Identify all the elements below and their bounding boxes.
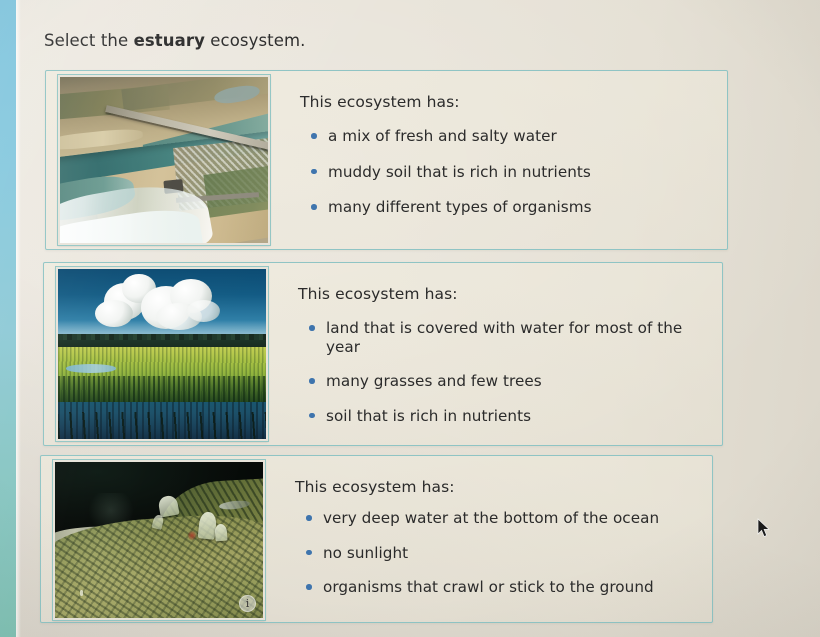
list-item: muddy soil that is rich in nutrients [328, 163, 711, 182]
estuary-thumbnail-wrap[interactable] [46, 71, 270, 249]
card-feature-list: a mix of fresh and salty water muddy soi… [300, 127, 711, 217]
estuary-aerial-photo[interactable] [58, 75, 270, 245]
card-feature-list: very deep water at the bottom of the oce… [295, 509, 696, 597]
prompt-keyword: estuary [134, 31, 205, 50]
list-item: land that is covered with water for most… [326, 319, 706, 356]
list-item: organisms that crawl or stick to the gro… [323, 578, 696, 597]
card-lead-text: This ecosystem has: [295, 478, 696, 496]
answer-card-marsh[interactable]: This ecosystem has: land that is covered… [43, 262, 723, 446]
list-item: very deep water at the bottom of the oce… [323, 509, 696, 528]
list-item: a mix of fresh and salty water [328, 127, 711, 146]
salt-marsh-photo[interactable] [56, 267, 268, 441]
deep-sea-thumbnail-wrap[interactable]: i [41, 456, 265, 622]
deep-sea-floor-photo[interactable]: i [53, 460, 265, 620]
marsh-thumbnail-wrap[interactable] [44, 263, 268, 445]
mouse-pointer-icon [757, 518, 771, 538]
list-item: many grasses and few trees [326, 372, 706, 391]
question-prompt: Select the estuary ecosystem. [44, 31, 306, 50]
prompt-text-before: Select the [44, 31, 134, 50]
card-feature-list: land that is covered with water for most… [298, 319, 706, 425]
list-item: no sunlight [323, 544, 696, 563]
app-left-edge-highlight [16, 0, 21, 637]
app-left-edge-strip [0, 0, 16, 637]
card-lead-text: This ecosystem has: [298, 285, 706, 303]
list-item: soil that is rich in nutrients [326, 407, 706, 426]
photo-credit-watermark-icon: i [239, 595, 256, 612]
answer-card-estuary[interactable]: This ecosystem has: a mix of fresh and s… [45, 70, 728, 250]
prompt-text-after: ecosystem. [205, 31, 306, 50]
card-lead-text: This ecosystem has: [300, 93, 711, 111]
list-item: many different types of organisms [328, 198, 711, 217]
answer-card-deep-sea[interactable]: i This ecosystem has: very deep water at… [40, 455, 713, 623]
